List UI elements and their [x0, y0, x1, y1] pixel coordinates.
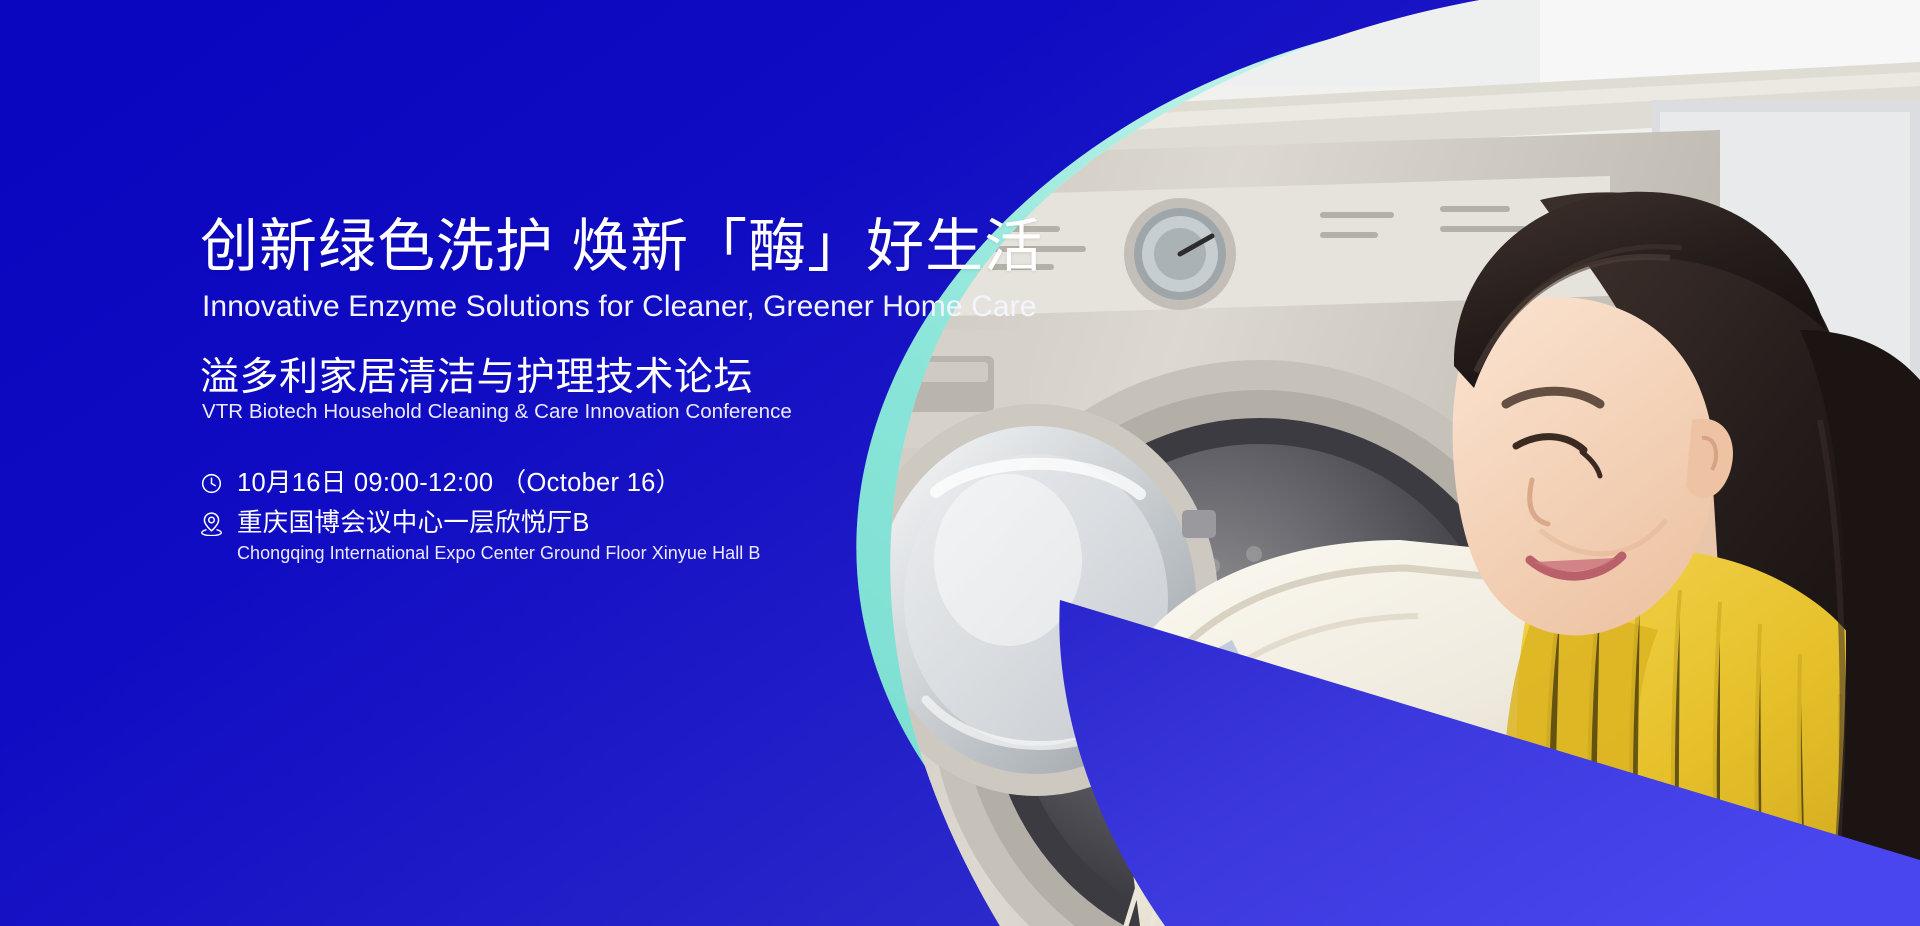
- subheadline-english: VTR Biotech Household Cleaning & Care In…: [202, 400, 792, 425]
- headline-english: Innovative Enzyme Solutions for Cleaner,…: [202, 290, 1037, 323]
- event-date-row: 10月16日 09:00-12:00 （October 16）: [200, 468, 1020, 498]
- event-venue-text-chinese: 重庆国博会议中心一层欣悦厅B: [237, 508, 760, 538]
- event-venue-text-english: Chongqing International Expo Center Grou…: [237, 540, 760, 566]
- conference-banner: 创新绿色洗护 焕新「酶」好生活 Innovative Enzyme Soluti…: [0, 0, 1920, 926]
- headline-chinese: 创新绿色洗护 焕新「酶」好生活: [200, 216, 1043, 279]
- event-date-text: 10月16日 09:00-12:00 （October 16）: [237, 468, 681, 498]
- event-details: 10月16日 09:00-12:00 （October 16） 重庆国博会议中心…: [200, 468, 1020, 576]
- event-venue-row: 重庆国博会议中心一层欣悦厅B Chongqing International E…: [200, 508, 1020, 566]
- location-pin-icon: [200, 508, 226, 538]
- clock-icon: [200, 468, 226, 498]
- banner-text-column: 创新绿色洗护 焕新「酶」好生活 Innovative Enzyme Soluti…: [200, 0, 1060, 926]
- subheadline-chinese: 溢多利家居清洁与护理技术论坛: [200, 356, 753, 401]
